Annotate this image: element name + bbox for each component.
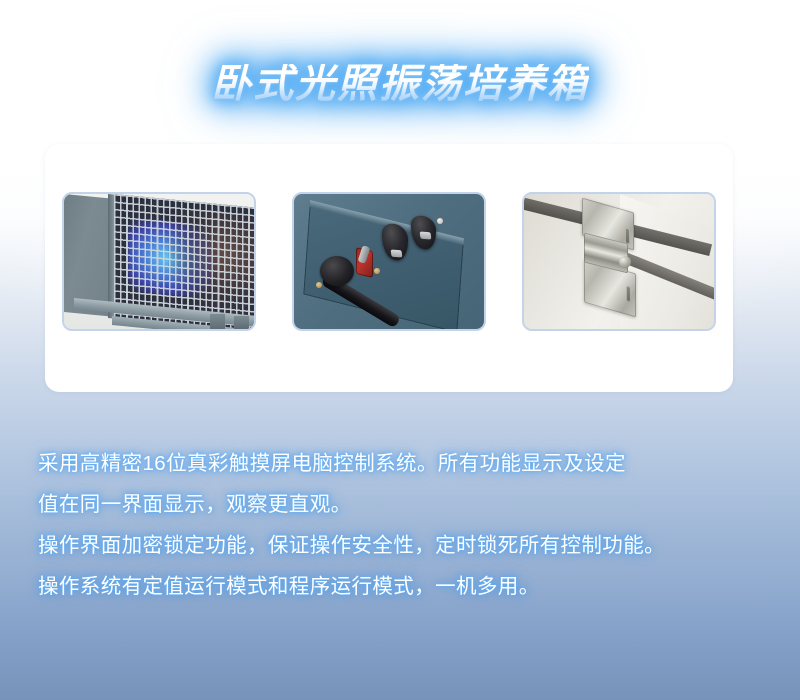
hinge-pin bbox=[619, 256, 631, 268]
description-block: 采用高精密16位真彩触摸屏电脑控制系统。所有功能显示及设定 值在同一界面显示，观… bbox=[38, 443, 768, 607]
hinge-slot bbox=[625, 227, 630, 244]
cabinet-leg bbox=[234, 316, 249, 329]
fuse-cap-face bbox=[391, 250, 403, 258]
panel-screw bbox=[316, 282, 322, 288]
page-title: 卧式光照振荡培养箱 bbox=[211, 64, 589, 104]
description-line-1: 采用高精密16位真彩触摸屏电脑控制系统。所有功能显示及设定 bbox=[38, 443, 768, 484]
door-hinge-image bbox=[524, 194, 714, 329]
product-feature-page: 卧式光照振荡培养箱 bbox=[0, 0, 800, 700]
photo-card bbox=[45, 144, 733, 392]
cord-grommet bbox=[320, 256, 354, 286]
ventilation-grille-photo[interactable] bbox=[62, 192, 256, 331]
door-hinge-photo[interactable] bbox=[522, 192, 716, 331]
description-line-4: 操作系统有定值运行模式和程序运行模式，一机多用。 bbox=[38, 566, 768, 607]
title-container: 卧式光照振荡培养箱 bbox=[0, 64, 800, 104]
rear-connector-panel-photo[interactable] bbox=[292, 192, 486, 331]
photo-row bbox=[62, 192, 716, 331]
panel-screw bbox=[437, 218, 443, 224]
panel-screw bbox=[374, 268, 380, 274]
cabinet-left-face bbox=[64, 194, 112, 317]
rear-panel-image bbox=[294, 194, 484, 329]
ventilation-grille-image bbox=[64, 194, 254, 329]
description-line-3: 操作界面加密锁定功能，保证操作安全性，定时锁死所有控制功能。 bbox=[38, 525, 768, 566]
cabinet-leg bbox=[210, 314, 225, 330]
fuse-cap-face bbox=[420, 232, 432, 240]
hinge-slot bbox=[626, 285, 631, 302]
description-line-2: 值在同一界面显示，观察更直观。 bbox=[38, 484, 768, 525]
